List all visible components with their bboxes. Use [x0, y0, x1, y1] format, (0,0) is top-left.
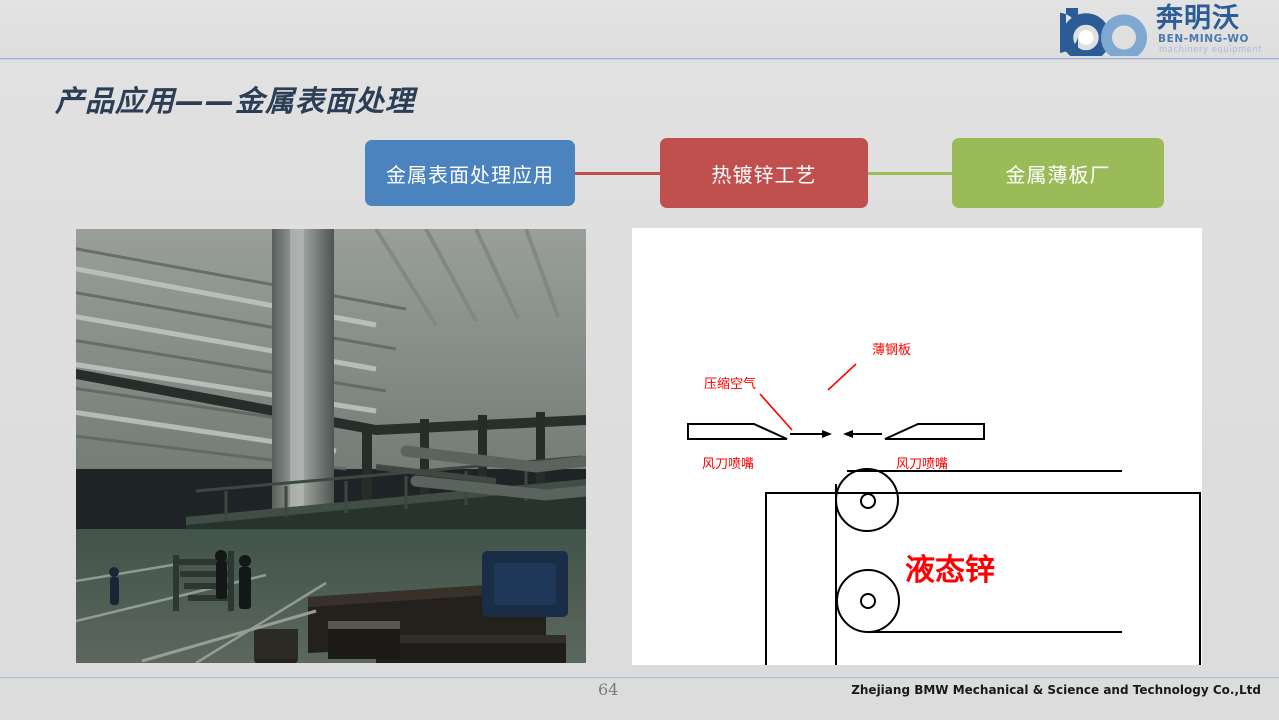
box-sheet-metal-plant[interactable]: 金属薄板厂: [952, 138, 1164, 208]
logo-tagline: machinery equipment: [1159, 45, 1262, 55]
label-steel-sheet: 薄钢板: [872, 343, 911, 358]
label-air-knife-right: 风刀喷嘴: [896, 457, 948, 472]
logo-chinese-name: 奔明沃: [1156, 4, 1240, 34]
galvanizing-diagram-svg: 薄钢板 压缩空气 风刀喷嘴 风刀喷嘴 液态锌: [632, 228, 1202, 665]
header-divider: [0, 57, 1279, 60]
galvanizing-process-diagram: 薄钢板 压缩空气 风刀喷嘴 风刀喷嘴 液态锌: [632, 228, 1202, 665]
box-metal-surface-application[interactable]: 金属表面处理应用: [365, 140, 575, 206]
page-title: 产品应用——金属表面处理: [55, 78, 415, 120]
factory-photo-image: [76, 229, 586, 663]
company-logo: 奔明沃 BEN-MING-WO machinery equipment: [1060, 4, 1272, 56]
label-air-knife-left: 风刀喷嘴: [702, 457, 754, 472]
box-sheet-metal-plant-label: 金属薄板厂: [1006, 159, 1111, 188]
footer-divider: [0, 676, 1279, 679]
box-metal-surface-application-label: 金属表面处理应用: [386, 159, 554, 188]
connector-blue-to-red: [575, 172, 661, 175]
factory-photo: [76, 229, 586, 663]
label-liquid-zinc: 液态锌: [905, 553, 995, 588]
connector-red-to-green: [868, 172, 953, 175]
slide-canvas: 奔明沃 BEN-MING-WO machinery equipment 产品应用…: [0, 0, 1279, 720]
box-hot-dip-galvanizing[interactable]: 热镀锌工艺: [660, 138, 868, 208]
page-number: 64: [598, 680, 618, 699]
footer-company-name: Zhejiang BMW Mechanical & Science and Te…: [851, 683, 1261, 697]
label-compressed-air: 压缩空气: [704, 376, 756, 392]
logo-english-name: BEN-MING-WO: [1158, 33, 1249, 45]
diagram-background: [632, 228, 1202, 665]
box-hot-dip-galvanizing-label: 热镀锌工艺: [712, 159, 817, 188]
